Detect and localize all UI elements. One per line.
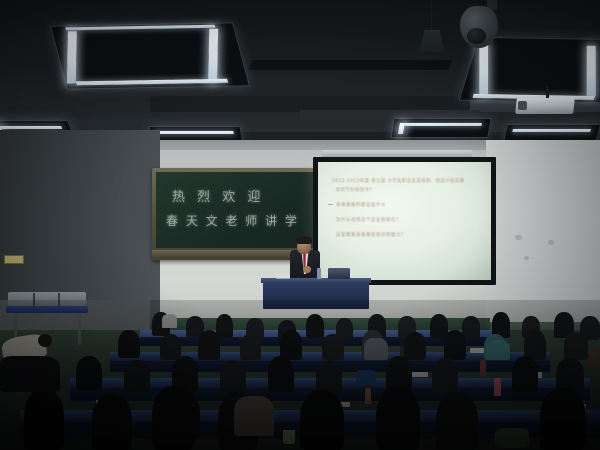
light-tube [67, 31, 77, 83]
slide-text-line-2: 如何写好规划书？ [336, 187, 374, 193]
ceiling-beam-diagonal [248, 60, 452, 70]
student-white-top [162, 314, 177, 328]
metal-waiting-bench[interactable] [8, 292, 86, 306]
student-silhouette [118, 330, 140, 358]
student-silhouette [556, 358, 584, 392]
projector-lens-icon [518, 101, 527, 110]
slide-bullet-dash [328, 204, 333, 205]
slide-text-line-5: 这里需要具备哪些知识和能力？ [336, 232, 406, 238]
bench-leg [78, 313, 81, 345]
light-tube-edge [65, 25, 215, 31]
student-silhouette [322, 334, 344, 360]
blackboard-surface: 热 烈 欢 迎 春 天 文 老 师 讲 学 [156, 172, 316, 248]
slide-text-line-3: 未来要做的职业是什么 [336, 202, 386, 208]
water-bottle[interactable] [365, 388, 371, 404]
light-tube-edge [76, 79, 228, 86]
bench-leg [14, 313, 17, 339]
student-silhouette [198, 330, 220, 360]
student-silhouette [564, 332, 588, 360]
bench-seat-divider [33, 293, 35, 306]
student-silhouette [240, 334, 261, 360]
student-silhouette [432, 358, 458, 392]
water-bottle[interactable] [494, 378, 501, 396]
student-long-hair [160, 388, 200, 444]
chalk-line-2: 春 天 文 老 师 讲 学 [166, 212, 299, 229]
light-tube-edge [155, 131, 234, 134]
student-silhouette [300, 390, 344, 450]
student-silhouette [540, 388, 586, 450]
recessed-troffer-left [50, 22, 250, 89]
student-silhouette [316, 360, 342, 392]
student-lower-body [0, 356, 60, 392]
classroom-blackboard: 热 烈 欢 迎 春 天 文 老 师 讲 学 [152, 168, 320, 260]
student-silhouette [512, 356, 538, 392]
camera-lens-icon [467, 28, 486, 44]
student-silhouette [124, 360, 150, 392]
light-tube-edge [403, 123, 482, 126]
student-bag[interactable] [495, 428, 529, 448]
slide-text-line-1: 2012-2013年度 第七届 大学生职业生涯规划、创业计划竞赛 [332, 178, 464, 184]
wall-scuff-mark [548, 240, 554, 245]
student-silhouette [24, 388, 64, 450]
light-tube [479, 44, 488, 94]
wall-power-outlet[interactable] [4, 255, 24, 264]
pull-down-projection-screen: 2012-2013年度 第七届 大学生职业生涯规划、创业计划竞赛 如何写好规划书… [313, 157, 496, 285]
presenter-hand [303, 266, 311, 273]
student-teal-top [486, 340, 510, 360]
podium-papers [276, 275, 290, 279]
student-silhouette [436, 392, 478, 450]
projection-screen-surface: 2012-2013年度 第七届 大学生职业生涯规划、创业计划竞赛 如何写好规划书… [318, 162, 491, 280]
student-silhouette [76, 356, 102, 390]
podium-water-bottle[interactable] [317, 268, 321, 279]
student-silhouette [306, 314, 324, 338]
student-silhouette [376, 386, 420, 450]
wall-scuff-mark [524, 256, 529, 260]
presenter-hair [296, 236, 312, 244]
metal-waiting-bench-seat[interactable] [6, 306, 88, 313]
light-tube-edge [512, 129, 591, 132]
water-bottle[interactable] [480, 360, 486, 376]
student-beige-top [234, 396, 274, 436]
student-silhouette [444, 330, 466, 360]
lecture-hall-photo: 热 烈 欢 迎 春 天 文 老 师 讲 学 2012-2013年度 第七届 大学… [0, 0, 600, 450]
student-silhouette [462, 316, 480, 338]
light-tube-edge [0, 126, 62, 129]
student-gray-top [364, 338, 388, 360]
teacher-desk-podium[interactable] [263, 281, 369, 309]
podium-laptop[interactable] [328, 268, 350, 279]
light-tube [208, 29, 218, 81]
student-silhouette [216, 314, 233, 338]
right-wall [486, 140, 600, 340]
student-silhouette [268, 356, 294, 392]
screen-roller-housing[interactable] [322, 150, 472, 157]
wall-scuff-mark [515, 235, 522, 240]
student-backpack[interactable] [588, 348, 600, 366]
bench-seat-divider [58, 293, 60, 306]
student-silhouette [92, 394, 132, 450]
chalk-line-1: 热 烈 欢 迎 [172, 186, 264, 205]
paper-cup[interactable] [283, 430, 295, 444]
light-tube [587, 46, 596, 96]
slide-text-line-4: 为什么选择这个这业和岗位？ [336, 217, 401, 223]
pendant-wire [431, 0, 432, 30]
student-head [38, 334, 52, 347]
student-bag[interactable] [356, 370, 376, 384]
student-silhouette [404, 332, 426, 360]
student-silhouette [220, 360, 246, 392]
student-silhouette [160, 334, 181, 360]
recessed-troffer-back-right [390, 118, 492, 138]
